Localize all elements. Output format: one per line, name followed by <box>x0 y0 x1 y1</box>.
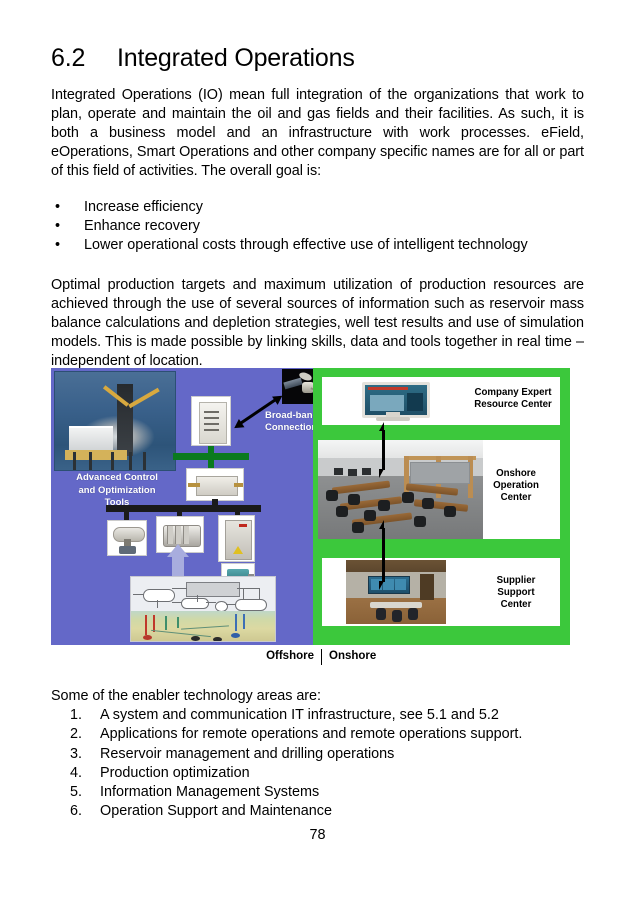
list-item: 3.Reservoir management and drilling oper… <box>51 745 584 764</box>
list-item-label: Operation Support and Maintenance <box>100 803 332 819</box>
company-expert-resource-center-label: Company Expert Resource Center <box>467 387 559 411</box>
list-item-number: 1. <box>70 706 82 725</box>
page-number: 78 <box>0 827 635 843</box>
list-item: 4.Production optimization <box>51 764 584 783</box>
page-title: 6.2Integrated Operations <box>51 45 584 73</box>
io-module-photo <box>186 468 244 501</box>
bullet-icon: • <box>55 236 60 255</box>
list-item: 1.A system and communication IT infrastr… <box>51 706 584 725</box>
supplier-support-center-label: Supplier Support Center <box>472 575 560 610</box>
offshore-platform-photo <box>54 371 176 471</box>
integrated-operations-figure: Advanced Control and Optimization Tools … <box>51 368 570 645</box>
onshore-operation-center-card: Onshore Operation Center <box>318 440 560 539</box>
document-page: 6.2Integrated Operations Integrated Oper… <box>0 0 635 900</box>
onshore-operation-center-label: Onshore Operation Center <box>478 468 554 503</box>
section-title: Integrated Operations <box>117 44 355 72</box>
lower-content: Some of the enabler technology areas are… <box>51 687 584 821</box>
list-item: •Lower operational costs through effecti… <box>51 236 584 255</box>
company-expert-resource-center-card: Company Expert Resource Center <box>322 377 560 425</box>
bullet-icon: • <box>55 217 60 236</box>
list-item-label: Enhance recovery <box>84 218 200 234</box>
section-number: 6.2 <box>51 45 117 73</box>
list-item-number: 4. <box>70 764 82 783</box>
list-item-label: Production optimization <box>100 765 250 781</box>
operations-room-photo <box>318 440 483 539</box>
caption-onshore: Onshore <box>329 650 376 662</box>
list-item: 2.Applications for remote operations and… <box>51 725 584 744</box>
list-item-label: Lower operational costs through effectiv… <box>84 237 528 253</box>
list-item-label: A system and communication IT infrastruc… <box>100 707 499 723</box>
list-item: 5.Information Management Systems <box>51 783 584 802</box>
supplier-support-center-card: Supplier Support Center <box>322 558 560 626</box>
valve-photo <box>107 520 147 556</box>
list-item-label: Applications for remote operations and r… <box>100 726 522 742</box>
list-item-number: 3. <box>70 745 82 764</box>
list-item-number: 2. <box>70 725 82 744</box>
caption-offshore: Offshore <box>244 650 314 662</box>
list-item: •Enhance recovery <box>51 217 584 236</box>
intro-paragraph: Integrated Operations (IO) mean full int… <box>51 86 584 181</box>
second-paragraph: Optimal production targets and maximum u… <box>51 276 584 371</box>
figure-caption: Offshore Onshore <box>51 650 570 668</box>
goals-list: •Increase efficiency •Enhance recovery •… <box>51 198 584 256</box>
enabler-intro: Some of the enabler technology areas are… <box>51 687 584 706</box>
arrow-expert-to-onshore <box>382 430 385 470</box>
bullet-icon: • <box>55 198 60 217</box>
enabler-list: 1.A system and communication IT infrastr… <box>51 706 584 821</box>
list-item-label: Reservoir management and drilling operat… <box>100 746 394 762</box>
upper-content: 6.2Integrated Operations Integrated Oper… <box>51 45 584 371</box>
supplier-room-photo <box>346 560 446 624</box>
upward-arrow-icon <box>172 556 184 576</box>
variable-speed-drive-photo <box>218 515 255 562</box>
list-item-label: Increase efficiency <box>84 199 203 215</box>
list-item-label: Information Management Systems <box>100 784 319 800</box>
list-item-number: 6. <box>70 802 82 821</box>
caption-divider <box>321 649 322 665</box>
monitor-photo <box>350 380 436 422</box>
arrow-onshore-to-supplier <box>382 528 385 582</box>
controller-equipment-photo <box>191 396 231 446</box>
advanced-control-label: Advanced Control and Optimization Tools <box>55 472 179 510</box>
list-item-number: 5. <box>70 783 82 802</box>
list-item: •Increase efficiency <box>51 198 584 217</box>
list-item: 6.Operation Support and Maintenance <box>51 802 584 821</box>
process-diagram-photo <box>130 576 276 642</box>
